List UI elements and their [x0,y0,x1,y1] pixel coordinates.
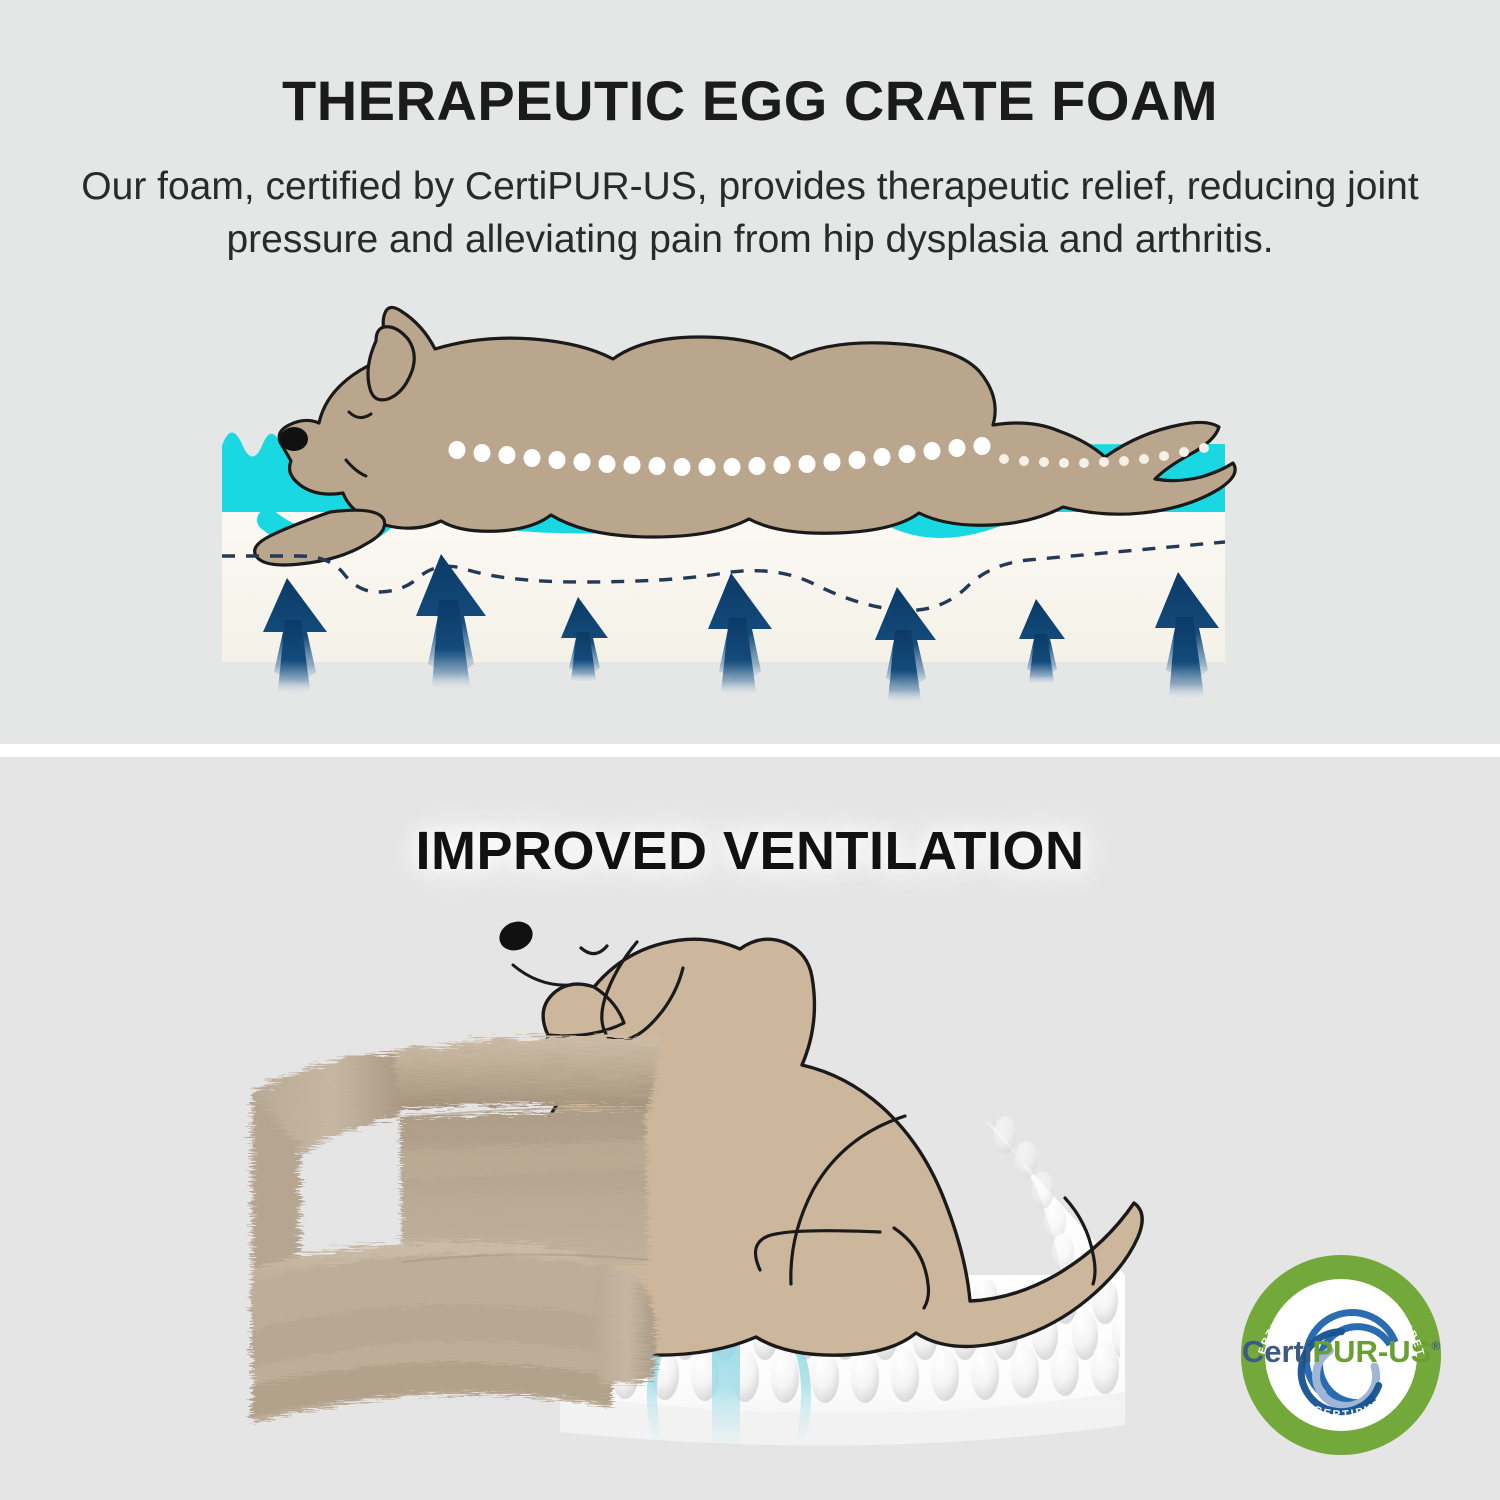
badge-wordmark-certi: Certi [1242,1334,1313,1369]
infographic-page: THERAPEUTIC EGG CRATE FOAM Our foam, cer… [0,0,1500,1500]
improved-ventilation-illustration [252,917,1142,1448]
certipur-us-badge: CertiPUR-US® CONTAINS CERTIFIED FLEXIBLE… [1238,1252,1444,1458]
bed-back-bolster [392,1036,660,1110]
dog-mouth-line [513,965,571,985]
dog-body-shape [279,307,1235,537]
bolster-bed [252,1036,660,1424]
dog-nose [495,917,537,956]
badge-registered-mark: ® [1431,1339,1440,1353]
therapeutic-foam-illustration [222,307,1235,703]
dog-eye-closed [581,946,607,954]
dog-nose [280,427,308,451]
